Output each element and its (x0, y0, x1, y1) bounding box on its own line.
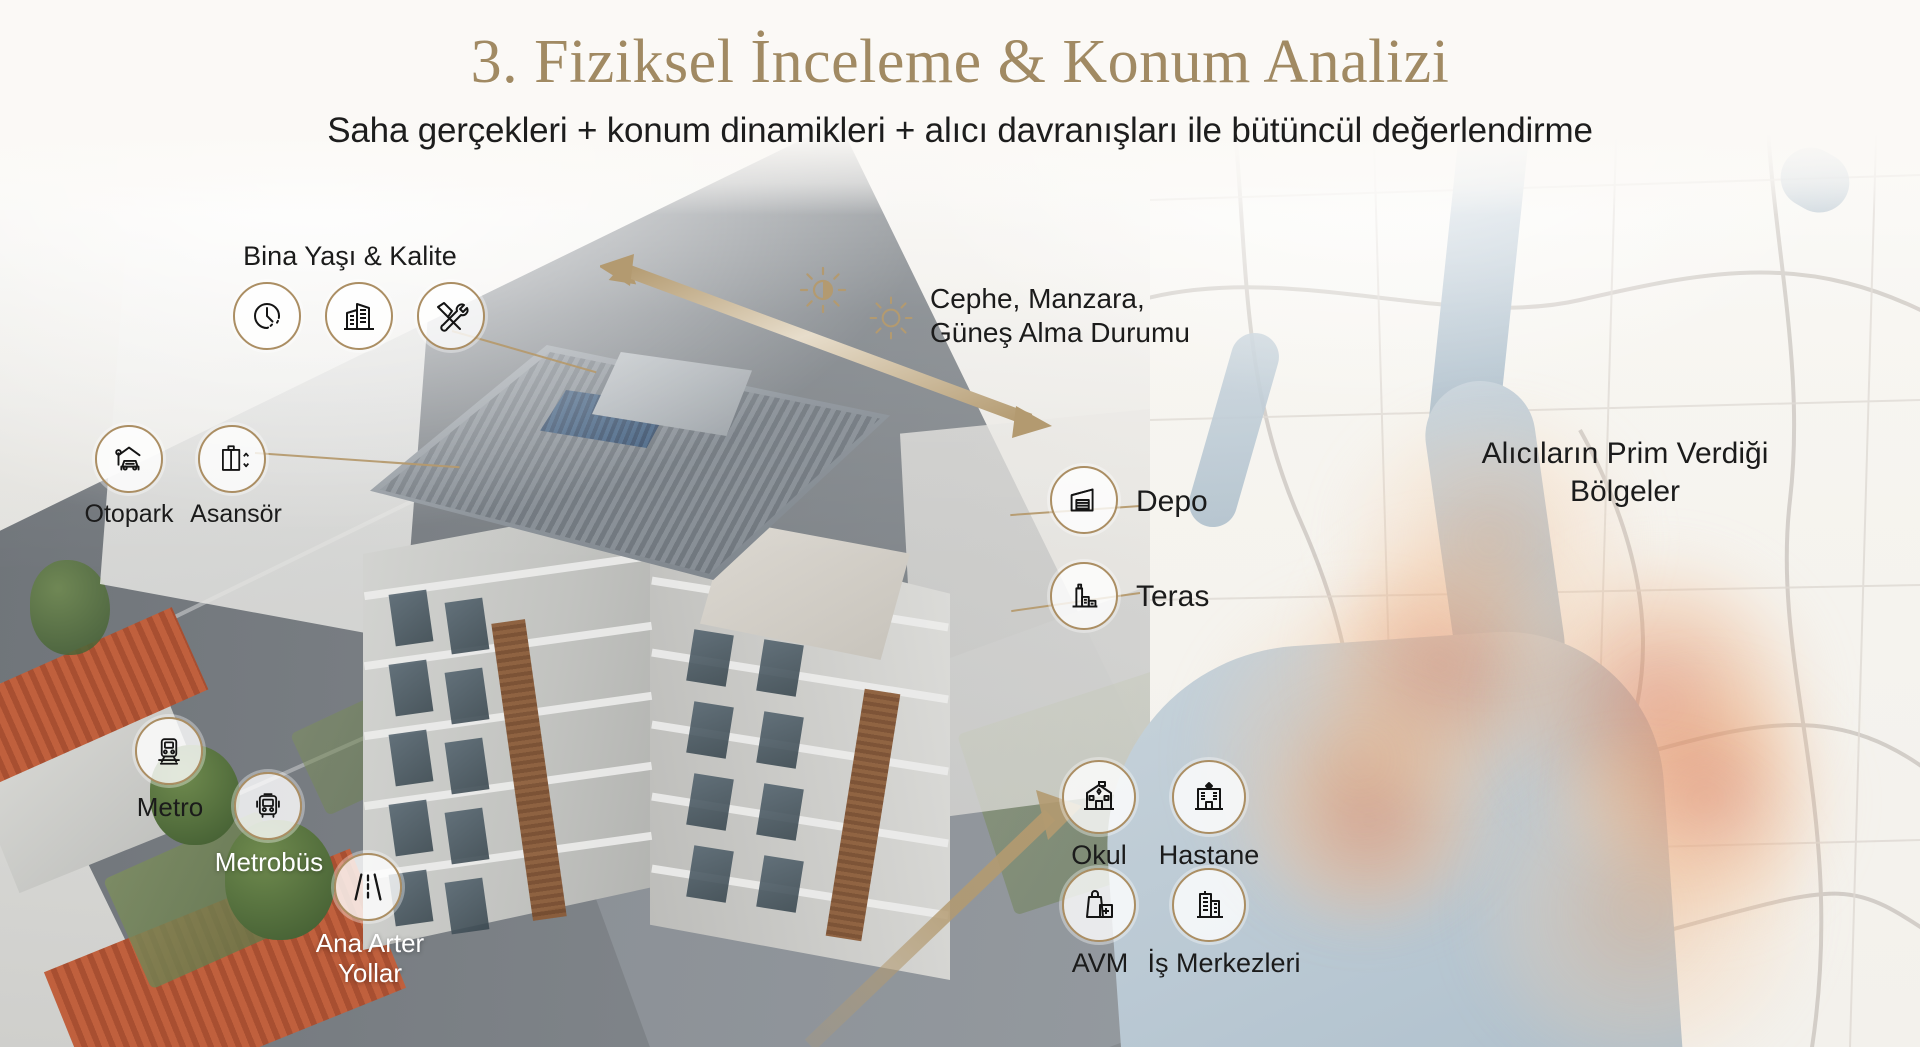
window (445, 808, 490, 865)
warehouse-icon[interactable] (1050, 466, 1118, 534)
window (389, 730, 434, 787)
label-metrobus: Metrobüs (206, 847, 332, 877)
terrace-icon[interactable] (1050, 562, 1118, 630)
sun-half-icon (795, 262, 851, 318)
window (389, 590, 434, 647)
office-building-icon[interactable] (1172, 868, 1246, 942)
label-hastane: Hastane (1148, 840, 1270, 871)
clock-icon[interactable] (233, 282, 301, 350)
window (389, 800, 434, 857)
sun-outline-icon (865, 292, 917, 344)
header: 3. Fiziksel İnceleme & Konum Analizi Sah… (0, 0, 1920, 151)
road-icon[interactable] (334, 853, 402, 921)
label-is-merkezleri: İş Merkezleri (1134, 948, 1314, 979)
page-title: 3. Fiziksel İnceleme & Konum Analizi (0, 0, 1920, 95)
hospital-icon[interactable] (1172, 760, 1246, 834)
window (756, 855, 804, 913)
group-title-building-quality: Bina Yaşı & Kalite (180, 240, 520, 272)
elevator-icon[interactable] (198, 425, 266, 493)
window (686, 845, 734, 903)
window (686, 773, 734, 831)
label-okul: Okul (1058, 840, 1140, 871)
window (445, 668, 490, 725)
page-subtitle: Saha gerçekleri + konum dinamikleri + al… (0, 95, 1920, 151)
tree (30, 560, 110, 655)
label-metro: Metro (108, 792, 232, 822)
school-icon[interactable] (1062, 760, 1136, 834)
heat-blob (1480, 760, 1800, 1047)
car-garage-icon[interactable] (95, 425, 163, 493)
label-avm: AVM (1055, 948, 1145, 979)
label-depo: Depo (1136, 485, 1316, 520)
window (686, 629, 734, 687)
label-teras: Teras (1136, 580, 1316, 615)
window (686, 701, 734, 759)
train-icon[interactable] (135, 717, 203, 785)
infographic-slide: 3. Fiziksel İnceleme & Konum Analizi Sah… (0, 0, 1920, 1047)
tree (225, 820, 335, 940)
window (389, 660, 434, 717)
tools-icon[interactable] (417, 282, 485, 350)
group-title-facade-sun: Cephe, Manzara, Güneş Alma Durumu (930, 282, 1260, 349)
window (445, 598, 490, 655)
buildings-icon[interactable] (325, 282, 393, 350)
window (756, 711, 804, 769)
label-ana-arter-yollar: Ana Arter Yollar (300, 928, 440, 988)
label-asansor: Asansör (176, 500, 296, 529)
bus-icon[interactable] (234, 772, 302, 840)
window (445, 738, 490, 795)
shopping-bag-icon[interactable] (1062, 868, 1136, 942)
group-title-heatmap: Alıcıların Prim Verdiği Bölgeler (1455, 435, 1795, 510)
label-otopark: Otopark (69, 500, 189, 529)
window (445, 878, 490, 935)
window (756, 639, 804, 697)
window (756, 783, 804, 841)
